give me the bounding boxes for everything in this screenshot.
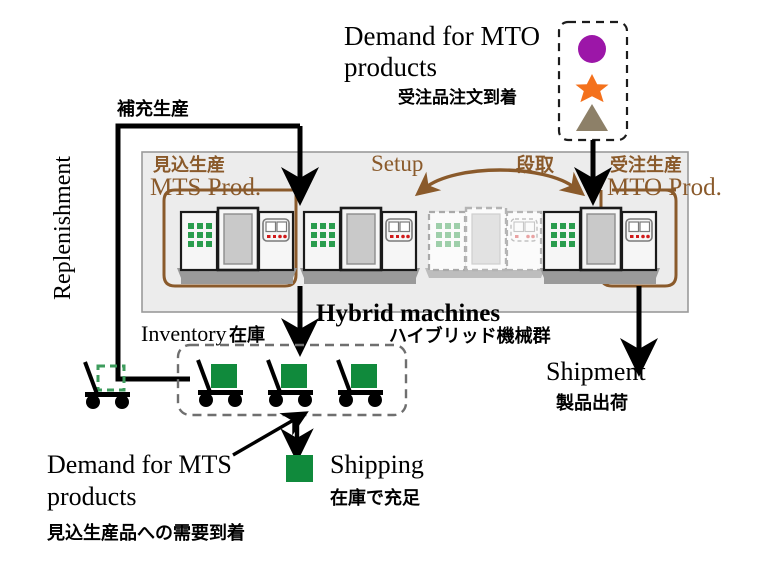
mto-machine-1 — [540, 208, 660, 284]
mts-machine-1 — [177, 208, 297, 284]
mts-demand-pointer-arrow — [233, 418, 297, 455]
cart-empty — [85, 362, 130, 409]
demand-mto-label-en-line1: Demand for MTO — [344, 22, 540, 51]
replenishment-label-jp: 補充生産 — [117, 100, 189, 119]
demand-mto-label-jp: 受注品注文到着 — [398, 89, 517, 107]
idle-machine-ghost — [425, 208, 545, 278]
cart-3 — [338, 360, 383, 407]
shipment-label-en: Shipment — [546, 358, 646, 386]
mts-machine-2 — [300, 208, 420, 284]
hybrid-machines-caption-jp: ハイブリッド機械群 — [389, 327, 551, 346]
inventory-label-jp: 在庫 — [229, 326, 265, 345]
shipment-label-jp: 製品出荷 — [556, 394, 628, 413]
mto-label-en: MTO Prod. — [607, 174, 722, 201]
replenishment-label-en-vertical: Replenishment — [51, 148, 77, 308]
demand-mts-label-jp: 見込生産品への需要到着 — [47, 524, 245, 543]
shipping-swatch — [286, 455, 313, 482]
cart-1 — [198, 360, 243, 407]
shipping-label-en: Shipping — [330, 451, 424, 479]
hybrid-machines-caption-en: Hybrid machines — [316, 300, 500, 327]
demand-mts-label-en-line1: Demand for MTS — [47, 451, 232, 479]
setup-label-en: Setup — [371, 152, 423, 177]
mts-label-jp: 見込生産 — [153, 156, 225, 175]
cart-2 — [268, 360, 313, 407]
diagram-canvas: Demand for MTO products 受注品注文到着 補充生産 Rep… — [0, 0, 759, 570]
demand-mts-label-en-line2: products — [47, 483, 137, 511]
circle-symbol — [578, 35, 606, 63]
mto-label-jp: 受注生産 — [610, 156, 682, 175]
mts-label-en: MTS Prod. — [150, 174, 261, 201]
setup-label-jp: 段取 — [516, 155, 554, 176]
demand-mto-label-en-line2: products — [344, 53, 437, 82]
inventory-label-en: Inventory — [141, 322, 227, 346]
shipping-label-jp: 在庫で充足 — [330, 489, 420, 508]
